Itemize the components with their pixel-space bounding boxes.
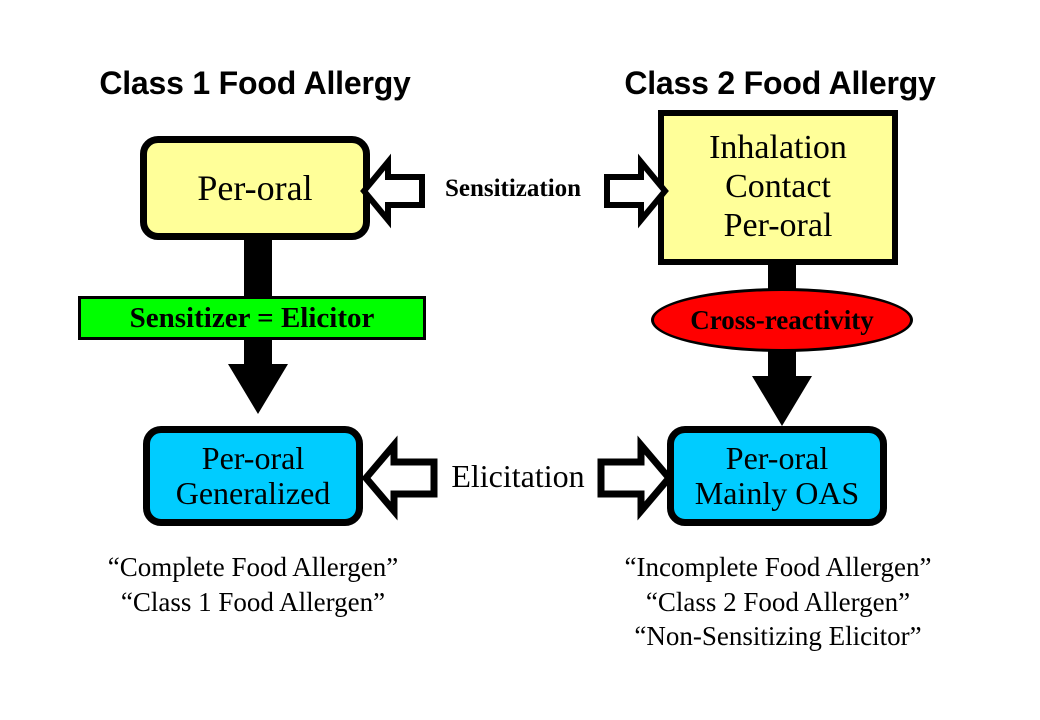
column-title-left: Class 1 Food Allergy (60, 65, 450, 102)
node-right-top-line-2: Per-oral (724, 207, 833, 246)
node-left-top[interactable]: Per-oral (140, 136, 370, 240)
node-left-bottom-line-0: Per-oral (202, 441, 304, 476)
node-left-top-line-0: Per-oral (197, 169, 312, 208)
sensitization-arrow-left-icon (362, 158, 424, 224)
node-right-top[interactable]: Inhalation Contact Per-oral (658, 110, 898, 265)
caption-left-line-0: “Complete Food Allergen” (53, 550, 453, 585)
node-left-bottom[interactable]: Per-oral Generalized (143, 426, 363, 526)
column-title-right: Class 2 Food Allergy (585, 65, 975, 102)
sensitization-label: Sensitization (418, 175, 608, 203)
caption-left: “Complete Food Allergen” “Class 1 Food A… (53, 550, 453, 619)
node-right-bottom[interactable]: Per-oral Mainly OAS (667, 426, 887, 526)
caption-right: “Incomplete Food Allergen” “Class 2 Food… (578, 550, 978, 654)
elicitation-label: Elicitation (428, 458, 608, 495)
elicitation-arrow-left-icon (364, 440, 436, 516)
caption-right-line-0: “Incomplete Food Allergen” (578, 550, 978, 585)
node-left-mid[interactable]: Sensitizer = Elicitor (78, 296, 426, 340)
node-right-top-line-1: Contact (725, 168, 831, 207)
sensitization-arrow-right-icon (605, 158, 667, 224)
node-right-mid[interactable]: Cross-reactivity (651, 288, 913, 352)
caption-left-line-1: “Class 1 Food Allergen” (53, 585, 453, 620)
diagram-canvas: Class 1 Food Allergy Class 2 Food Allerg… (0, 0, 1040, 720)
node-right-bottom-line-1: Mainly OAS (695, 476, 859, 511)
node-right-bottom-line-0: Per-oral (726, 441, 828, 476)
node-right-top-line-0: Inhalation (709, 129, 847, 168)
node-left-bottom-line-1: Generalized (176, 476, 331, 511)
elicitation-arrow-right-icon (599, 440, 671, 516)
caption-right-line-1: “Class 2 Food Allergen” (578, 585, 978, 620)
caption-right-line-2: “Non-Sensitizing Elicitor” (578, 619, 978, 654)
